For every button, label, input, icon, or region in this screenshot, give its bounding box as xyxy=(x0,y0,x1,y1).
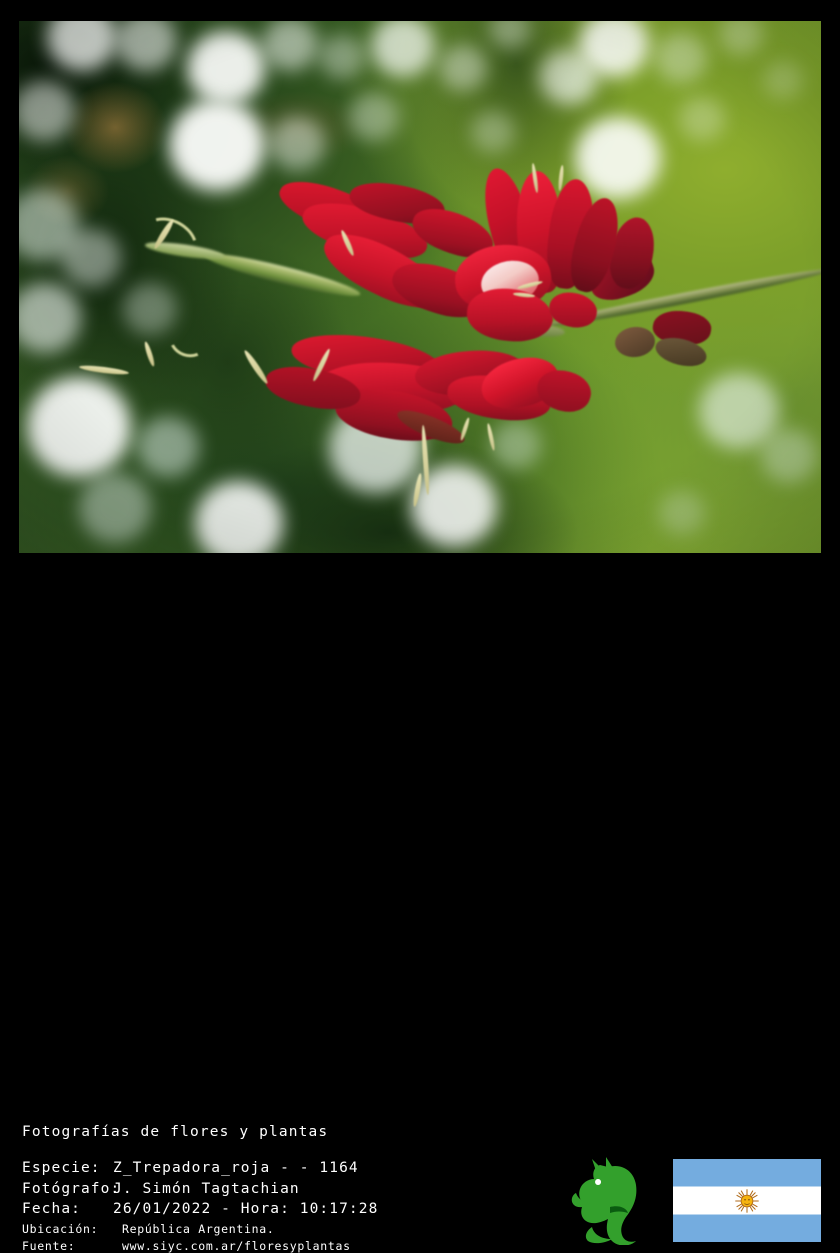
argentina-flag xyxy=(673,1159,821,1242)
value-especie: Z_Trepadora_roja - - 1164 xyxy=(113,1160,359,1176)
label-fotografo: Fotógrafo: xyxy=(22,1181,113,1197)
photo-vignette xyxy=(19,21,821,553)
value-fotografo: J. Simón Tagtachian xyxy=(113,1181,300,1197)
flower-photograph xyxy=(19,21,821,553)
green-squirrel-logo xyxy=(570,1157,662,1245)
caption-row-fecha: Fecha:26/01/2022 - Hora: 10:17:28 xyxy=(22,1201,378,1217)
label-fuente: Fuente: xyxy=(22,1239,122,1253)
value-fecha: 26/01/2022 - Hora: 10:17:28 xyxy=(113,1201,378,1217)
label-especie: Especie: xyxy=(22,1160,113,1176)
caption-row-fotografo: Fotógrafo:J. Simón Tagtachian xyxy=(22,1181,300,1197)
value-ubicacion: República Argentina. xyxy=(122,1222,274,1236)
page-title: Fotografías de flores y plantas xyxy=(22,1124,328,1140)
value-fuente: www.siyc.com.ar/floresyplantas xyxy=(122,1239,351,1253)
caption-row-fuente: Fuente:www.siyc.com.ar/floresyplantas xyxy=(22,1239,351,1253)
caption-row-ubicacion: Ubicación:República Argentina. xyxy=(22,1222,274,1236)
label-fecha: Fecha: xyxy=(22,1201,113,1217)
label-ubicacion: Ubicación: xyxy=(22,1222,122,1236)
sun-of-may-icon xyxy=(734,1188,760,1214)
caption-row-especie: Especie:Z_Trepadora_roja - - 1164 xyxy=(22,1160,359,1176)
caption-panel: Fotografías de flores y plantas Especie:… xyxy=(0,553,840,708)
photo-card: Fotografías de flores y plantas Especie:… xyxy=(0,0,840,708)
